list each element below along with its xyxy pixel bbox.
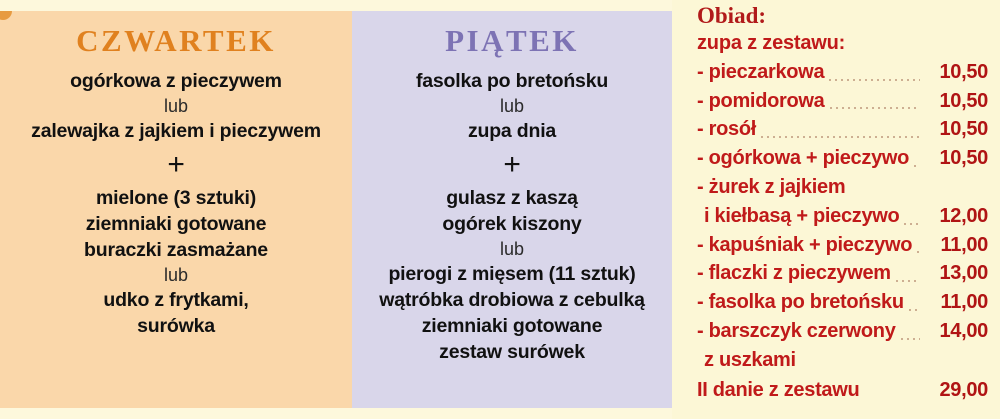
menu-item: wątróbka drobiowa z cebulką (379, 288, 645, 314)
dot-leader (828, 106, 920, 110)
dot-leader (915, 250, 920, 254)
price-item-name: z uszkami (697, 346, 796, 375)
price-item-name: - barszczyk czerwony (697, 317, 896, 346)
price-row: - barszczyk czerwony14,00 (697, 317, 988, 346)
menu-item: surówka (31, 314, 321, 340)
menu-item: lub (379, 95, 645, 119)
price-row: - flaczki z pieczywem13,00 (697, 259, 988, 288)
dot-leader (799, 366, 920, 370)
menu-item: buraczki zasmażane (31, 238, 321, 264)
price-value: 29,00 (896, 376, 988, 405)
price-row: - ogórkowa + pieczywo10,50 (697, 144, 988, 173)
day-items-czwartek: ogórkowa z pieczywemlubzalewajka z jajki… (31, 69, 321, 340)
price-item-name: - flaczki z pieczywem (697, 259, 891, 288)
price-list-panel: Obiad: zupa z zestawu: - pieczarkowa10,5… (672, 0, 1000, 419)
dot-leader (907, 308, 920, 312)
price-value: 12,00 (922, 202, 988, 231)
day-column-piatek: PIĄTEK fasolka po bretońskulubzupa dnia+… (352, 11, 672, 408)
menu-item: lub (379, 238, 645, 262)
dot-leader (862, 395, 894, 399)
day-title-czwartek: CZWARTEK (76, 25, 276, 56)
menu-item: udko z frytkami, (31, 288, 321, 314)
price-row: - żurek z jajkiem (697, 173, 988, 202)
price-value: 11,00 (922, 288, 988, 317)
price-value: 10,50 (922, 58, 988, 87)
menu-item: pierogi z mięsem (11 sztuk) (379, 262, 645, 288)
price-item-name: i kiełbasą + pieczywo (697, 202, 899, 231)
price-value: 10,50 (922, 115, 988, 144)
day-column-czwartek: CZWARTEK ogórkowa z pieczywemlubzalewajk… (0, 11, 352, 408)
price-row: - pomidorowa10,50 (697, 87, 988, 116)
price-item-name: - kapuśniak + pieczywo (697, 231, 912, 260)
dot-leader (912, 164, 920, 168)
dot-leader (899, 337, 920, 341)
menu-item: fasolka po bretońsku (379, 69, 645, 95)
day-title-piatek: PIĄTEK (445, 25, 579, 56)
menu-item: ziemniaki gotowane (31, 212, 321, 238)
menu-item: mielone (3 sztuki) (31, 186, 321, 212)
decorative-dot-icon (0, 11, 12, 20)
plus-separator: + (31, 149, 321, 181)
price-rows: - pieczarkowa10,50- pomidorowa10,50- ros… (697, 58, 988, 405)
price-value: 10,50 (922, 87, 988, 116)
price-row: II danie z zestawu29,00 (697, 376, 988, 405)
menu-item: ogórek kiszony (379, 212, 645, 238)
price-list-heading: Obiad: (697, 4, 988, 29)
price-item-name: - pieczarkowa (697, 58, 824, 87)
menu-item: ogórkowa z pieczywem (31, 69, 321, 95)
dot-leader (902, 222, 920, 226)
price-value: 13,00 (922, 259, 988, 288)
menu-board: CZWARTEK ogórkowa z pieczywemlubzalewajk… (0, 0, 1000, 419)
menu-item: zupa dnia (379, 119, 645, 145)
price-list-subheading: zupa z zestawu: (697, 32, 988, 54)
price-row: - pieczarkowa10,50 (697, 58, 988, 87)
menu-item: lub (31, 95, 321, 119)
price-row: i kiełbasą + pieczywo12,00 (697, 202, 988, 231)
price-item-name: - fasolka po bretońsku (697, 288, 904, 317)
menu-item: zalewajka z jajkiem i pieczywem (31, 119, 321, 145)
dot-leader (894, 279, 920, 283)
price-item-name: - żurek z jajkiem (697, 173, 845, 202)
price-item-name: - ogórkowa + pieczywo (697, 144, 909, 173)
menu-item: lub (31, 264, 321, 288)
dot-leader (827, 78, 920, 82)
price-row: - rosół10,50 (697, 115, 988, 144)
plus-separator: + (379, 149, 645, 181)
price-row: - fasolka po bretońsku11,00 (697, 288, 988, 317)
price-value: 10,50 (922, 144, 988, 173)
price-item-name: - rosół (697, 115, 756, 144)
day-items-piatek: fasolka po bretońskulubzupa dnia+gulasz … (379, 69, 645, 366)
menu-item: zestaw surówek (379, 340, 645, 366)
price-item-name: II danie z zestawu (697, 376, 859, 405)
price-item-name: - pomidorowa (697, 87, 825, 116)
menu-item: gulasz z kaszą (379, 186, 645, 212)
price-row: z uszkami (697, 346, 988, 375)
price-value: 14,00 (922, 317, 988, 346)
dot-leader (759, 135, 920, 139)
price-row: - kapuśniak + pieczywo11,00 (697, 231, 988, 260)
price-value: 11,00 (922, 231, 988, 260)
menu-item: ziemniaki gotowane (379, 314, 645, 340)
dot-leader (848, 193, 920, 197)
